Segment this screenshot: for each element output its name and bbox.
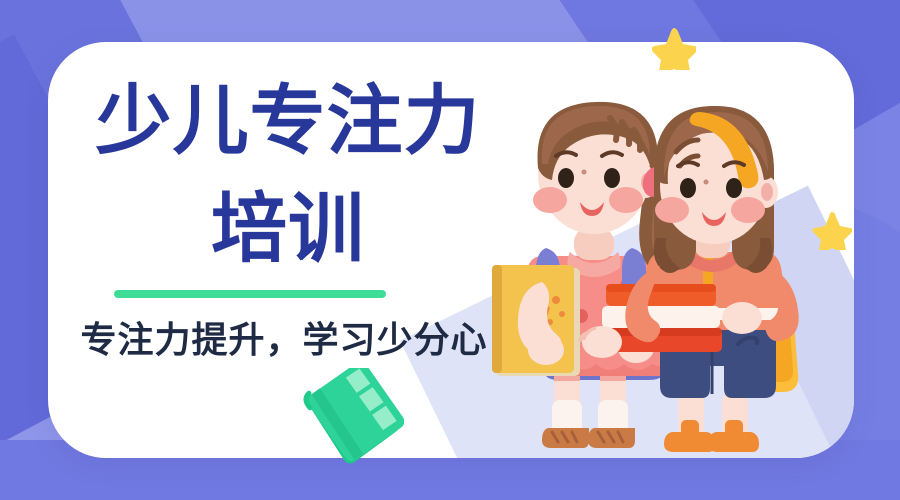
star-icon	[812, 210, 852, 250]
page-title-line2: 培训	[58, 192, 518, 268]
kids-illustration	[450, 60, 880, 460]
book-icon	[300, 368, 404, 468]
headline-block: 少儿专注力 培训 专注力提升，学习少分心	[48, 42, 518, 458]
promo-banner: 少儿专注力 培训 专注力提升，学习少分心	[0, 0, 900, 500]
divider-line	[114, 290, 386, 298]
star-icon	[652, 26, 696, 70]
page-subtitle: 专注力提升，学习少分心	[54, 318, 514, 361]
page-title-line1: 少儿专注力	[58, 84, 518, 160]
